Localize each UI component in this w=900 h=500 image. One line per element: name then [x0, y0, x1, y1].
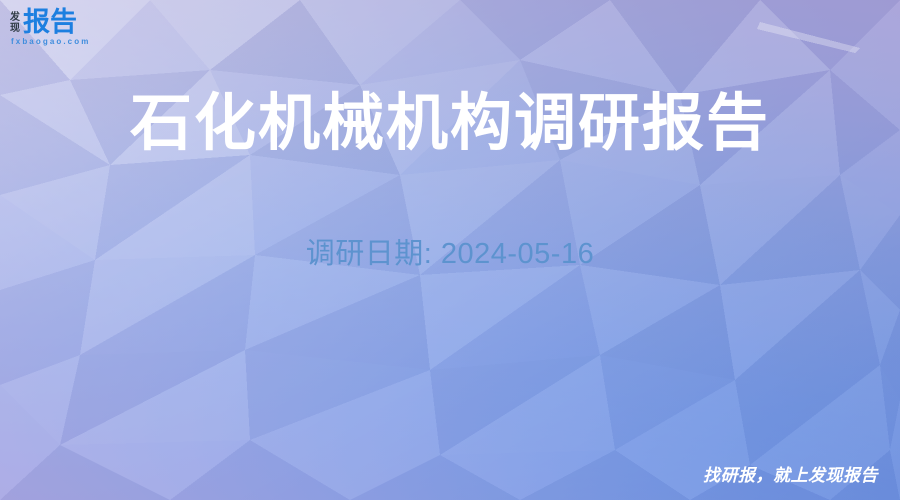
logo-mark-char-2: 现	[10, 23, 20, 34]
logo-mark-characters: 发 现	[10, 11, 20, 34]
report-cover-page: 发 现 报告 fxbaogao.com 石化机械机构调研报告 调研日期: 202…	[0, 0, 900, 500]
logo-website-url: fxbaogao.com	[11, 37, 90, 47]
survey-date-subtitle: 调研日期: 2024-05-16	[0, 234, 900, 274]
logo-wordmark-row: 发 现 报告	[10, 9, 77, 36]
logo-wordmark: 报告	[23, 9, 77, 36]
brand-logo[interactable]: 发 现 报告 fxbaogao.com	[10, 9, 90, 47]
footer-slogan: 找研报，就上发现报告	[703, 466, 878, 486]
page-title: 石化机械机构调研报告	[0, 88, 900, 160]
logo-mark-char-1: 发	[10, 12, 20, 23]
